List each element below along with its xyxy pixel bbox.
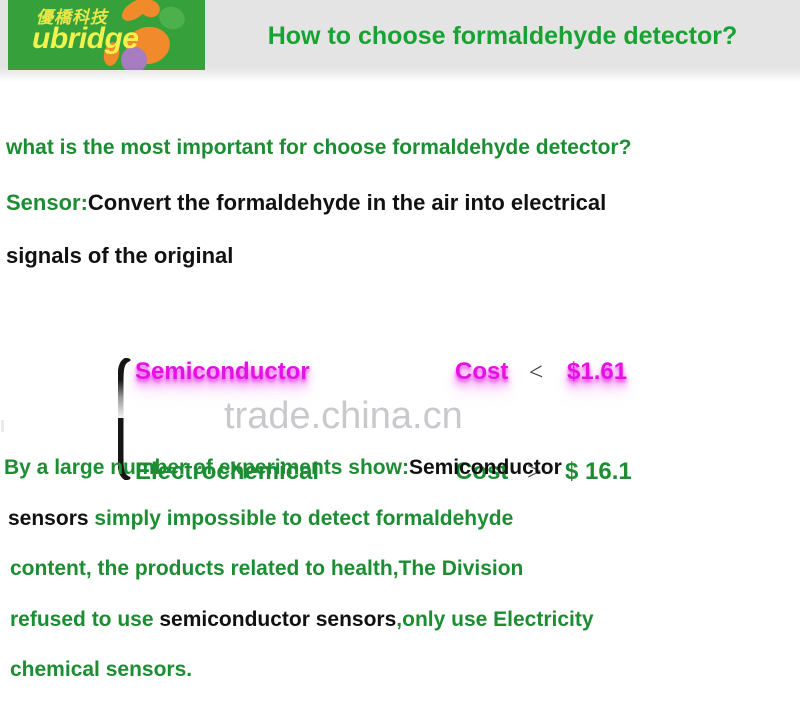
watermark-text: trade.china.cn: [224, 395, 463, 438]
conclusion-line-1-green: By a large number of experiments show:: [4, 456, 409, 479]
conclusion-line-2: sensors simply impossible to detect form…: [8, 507, 513, 531]
semiconductor-cost-label: Cost: [455, 358, 508, 386]
page-title: How to choose formaldehyde detector?: [205, 0, 800, 68]
left-edge-artifact: [1, 420, 4, 432]
conclusion-line-4-green-b: ,only use Electricity: [396, 608, 593, 631]
conclusion-line-4-green-a: refused to use: [10, 608, 159, 631]
conclusion-line-5: chemical sensors.: [10, 658, 192, 682]
sensor-definition-line-2: signals of the original: [6, 243, 233, 269]
conclusion-line-4-black: semiconductor sensors: [159, 608, 396, 631]
semiconductor-price-value: $1.61: [567, 358, 627, 386]
question-line: what is the most important for choose fo…: [6, 136, 631, 160]
electrochemical-price-value: $ 16.1: [565, 458, 632, 486]
conclusion-line-2-green: simply impossible to detect formaldehyde: [89, 507, 514, 530]
brand-logo[interactable]: 優橋科技 ubridge: [8, 0, 205, 70]
semiconductor-type-label: Semiconductor: [135, 358, 310, 386]
conclusion-line-3: content, the products related to health,…: [10, 557, 523, 581]
page-header: 優橋科技 ubridge How to choose formaldehyde …: [0, 0, 800, 68]
logo-brand-name: ubridge: [32, 22, 139, 56]
sensor-definition-line-1: Sensor:Convert the formaldehyde in the a…: [6, 190, 606, 216]
conclusion-line-1-black: Semiconductor: [409, 456, 562, 479]
sensor-definition-text-1: Convert the formaldehyde in the air into…: [88, 190, 606, 215]
slide-content: what is the most important for choose fo…: [0, 68, 800, 720]
logo-blob-green-icon: [156, 4, 188, 33]
sensor-label: Sensor:: [6, 190, 88, 215]
conclusion-line-4: refused to use semiconductor sensors,onl…: [10, 608, 594, 632]
conclusion-line-1: By a large number of experiments show:Se…: [4, 456, 562, 480]
conclusion-line-2-black: sensors: [8, 507, 89, 530]
semiconductor-operator: <: [528, 359, 544, 388]
